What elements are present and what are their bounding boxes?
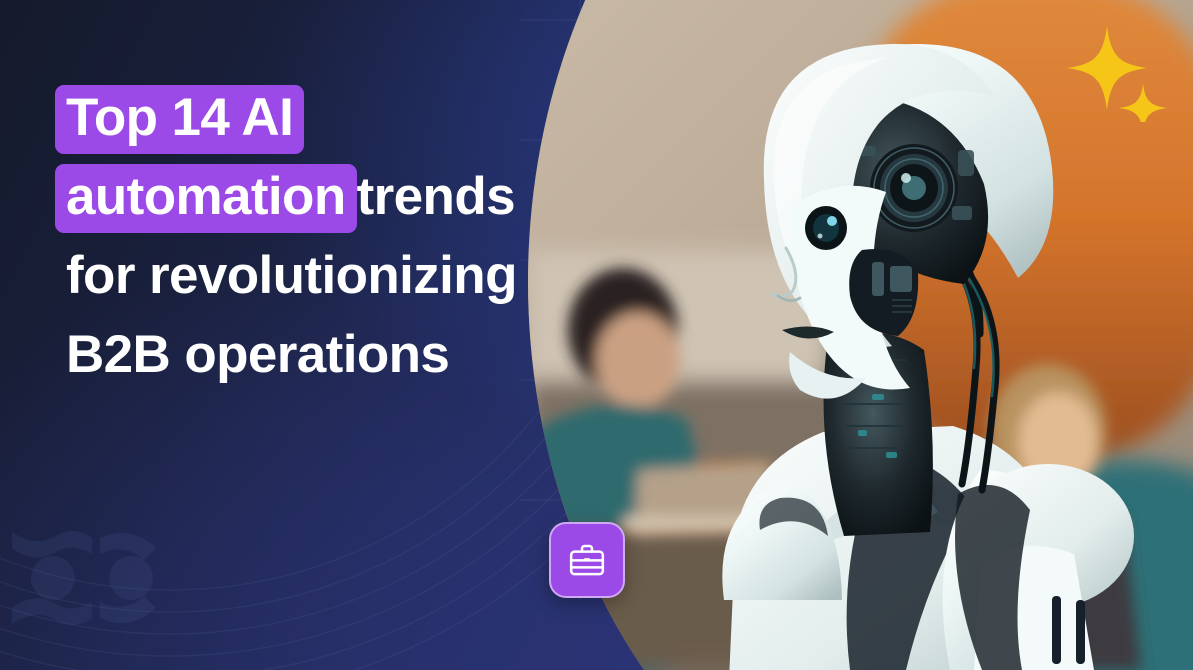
briefcase-icon (567, 540, 607, 580)
headline-plain-2: trends (357, 157, 515, 236)
brand-watermark-logo (8, 512, 176, 644)
hero-photo (528, 0, 1193, 670)
headline-line-3: for revolutionizing (66, 236, 626, 315)
headline-line-2: automation trends (66, 157, 626, 236)
headline-plain-3: for revolutionizing (66, 236, 517, 315)
headline-plain-4: B2B operations (66, 315, 449, 394)
robot-office-photo (528, 0, 1193, 670)
headline-line-4: B2B operations (66, 315, 626, 394)
page-title: Top 14 AI automation trends for revoluti… (66, 78, 626, 394)
headline-highlight-1: Top 14 AI (55, 85, 304, 154)
headline-line-1: Top 14 AI (66, 78, 626, 157)
headline-highlight-2: automation (55, 164, 357, 233)
briefcase-badge (549, 522, 625, 598)
banner-canvas: Top 14 AI automation trends for revoluti… (0, 0, 1193, 670)
